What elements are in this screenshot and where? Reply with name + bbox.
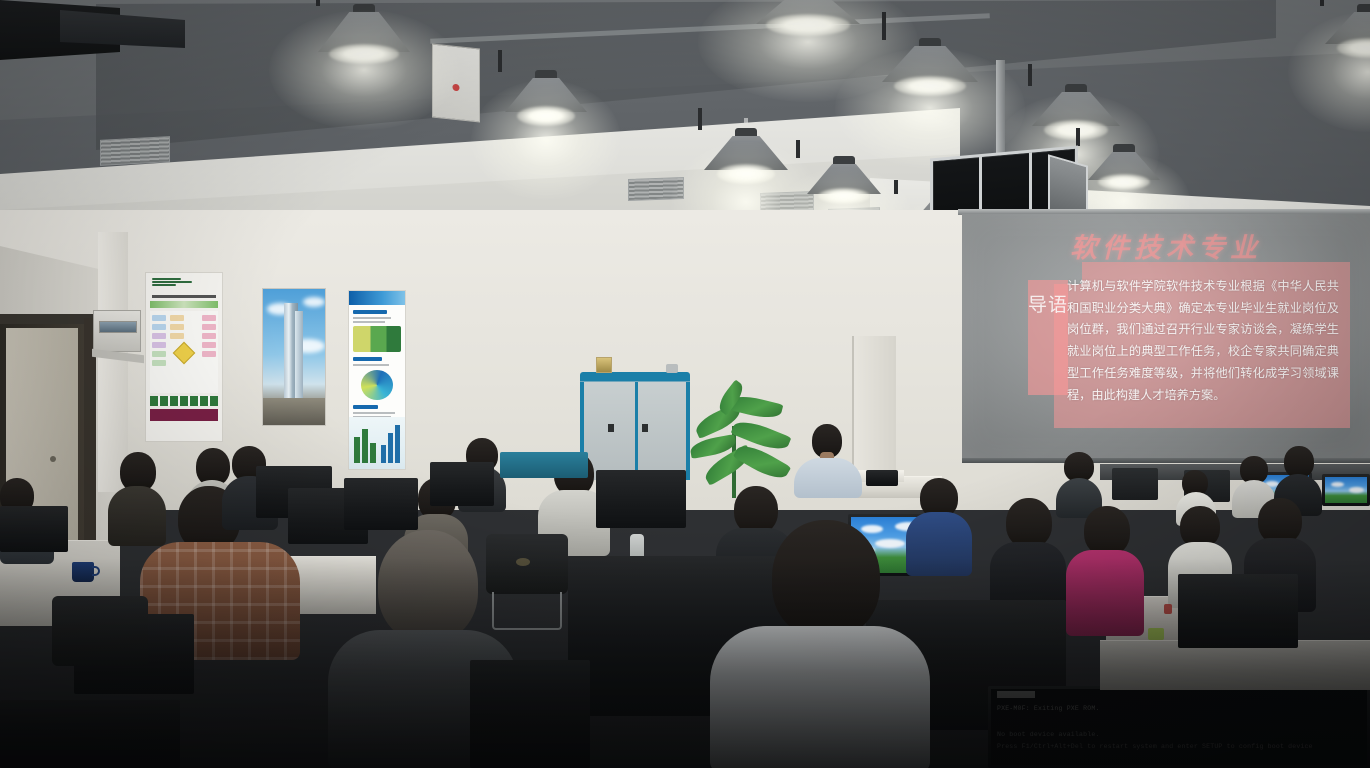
cabinet-top-box	[596, 357, 612, 373]
slide-side-tab-label: 导语	[1028, 292, 1068, 320]
presenter	[792, 424, 864, 486]
desk-object-green	[1148, 628, 1164, 640]
slide-title: 软件技术专业	[962, 226, 1370, 265]
poster-title-rule	[152, 295, 216, 298]
monitor-xp-right-2	[1322, 474, 1370, 506]
poster-header	[152, 278, 216, 292]
tower-photo-poster	[262, 288, 326, 426]
flowchart-poster	[145, 272, 223, 442]
door-knob-icon[interactable]	[50, 456, 56, 462]
monitor-wallpaper-2	[1325, 477, 1367, 503]
banner-globe-icon	[361, 370, 393, 400]
cabinet-top-object	[666, 364, 678, 373]
coffee-mug[interactable]	[72, 562, 94, 582]
poster-band	[150, 301, 218, 308]
monitor-center-4	[500, 452, 588, 478]
audience-foreground-white-shirt	[710, 520, 930, 768]
tower-ground	[263, 398, 325, 425]
air-vent-2	[628, 177, 684, 201]
monitor-bios: PXE-M0F: Exiting PXE ROM. No boot device…	[988, 686, 1370, 768]
bios-line-4: Press F1/Ctrl+Alt+Del to restart system …	[997, 743, 1313, 750]
tower-building-secondary	[295, 311, 303, 403]
bios-line-1: PXE-M0F: Exiting PXE ROM.	[997, 705, 1100, 712]
classroom-photo-scene: 软件技术专业 导语 计算机与软件学院软件技术专业根据《中华人民共和国职业分类大典…	[0, 0, 1370, 768]
wall-sensor-box	[432, 43, 480, 122]
audience-torso	[710, 626, 930, 768]
audience-head	[1084, 506, 1130, 556]
wall-control-panel[interactable]	[93, 310, 141, 352]
cabinet-handle-left[interactable]	[608, 424, 614, 432]
audience-head	[772, 520, 880, 638]
monitor-fg-far-left	[470, 660, 590, 768]
audience-head	[1006, 498, 1052, 548]
monitor-center-3	[430, 462, 494, 506]
audience-center-6-magenta	[1066, 506, 1144, 634]
monitor-left-2	[0, 506, 68, 552]
panel-display	[99, 321, 137, 333]
monitor-fg-bottom-left	[0, 700, 180, 768]
poster-footer-band	[150, 396, 218, 406]
potted-plant	[688, 386, 798, 498]
poster-bottom-bar	[150, 409, 218, 421]
audience-head	[378, 530, 478, 642]
chair-seat-dot	[516, 558, 530, 566]
sensor-led-icon	[453, 84, 460, 92]
banner-header	[349, 291, 405, 305]
projection-screen: 软件技术专业 导语 计算机与软件学院软件技术专业根据《中华人民共和国职业分类大典…	[962, 214, 1370, 460]
air-vent-1	[100, 136, 170, 166]
presenter-torso	[794, 458, 862, 498]
cabinet-handle-right[interactable]	[642, 424, 648, 432]
bios-cursor-block	[997, 691, 1035, 698]
projector-mount-pole	[996, 60, 1005, 160]
chair-left[interactable]	[52, 596, 148, 666]
banner-graphic-1	[353, 326, 401, 352]
monitor-far-right-1	[1112, 468, 1158, 500]
monitor-fg-right-edge	[1178, 574, 1298, 648]
podium-monitor	[866, 470, 898, 486]
bios-line-3: No boot device available.	[997, 731, 1100, 738]
audience-torso	[1066, 550, 1144, 636]
desk-object-red	[1164, 604, 1172, 614]
bios-screen: PXE-M0F: Exiting PXE ROM. No boot device…	[991, 689, 1367, 765]
poster-diagram	[150, 311, 218, 393]
slide-body-text: 计算机与软件学院软件技术专业根据《中华人民共和国职业分类大典》确定本专业毕业生就…	[1067, 276, 1339, 406]
monitor-center-1	[344, 478, 418, 530]
audience-center-5	[990, 498, 1066, 616]
slide-side-tab: 导语	[1028, 280, 1068, 395]
monitor-center-2	[596, 470, 686, 528]
roll-up-banner	[348, 290, 406, 470]
banner-chart-graphic	[349, 417, 405, 469]
